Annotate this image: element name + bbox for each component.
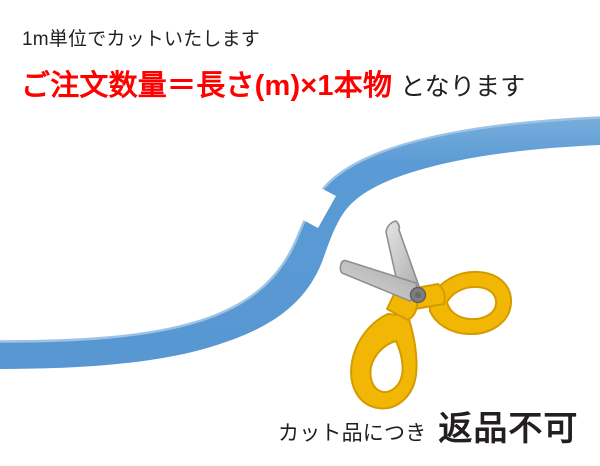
cut-unit-note: 1m単位でカットいたします [22,30,260,49]
scissors-handle-lower [351,288,417,408]
no-return-prefix: カット品につき [278,422,426,445]
order-formula-suffix: となります [400,73,525,101]
order-formula-line: ご注文数量＝長さ(m)×1本物となります [21,72,525,101]
scissors [340,221,511,408]
scissors-handle-upper [411,272,511,334]
no-return-line: カット品につき返品不可 [278,412,578,446]
blue-hose [0,117,600,369]
order-formula-red-text: ご注文数量＝長さ(m)×1本物 [21,70,392,102]
slide-canvas: 1m単位でカットいたします ご注文数量＝長さ(m)×1本物となります カット品に… [0,0,600,466]
scissors-pivot-center [415,292,421,298]
scissors-handle-lower-ring [351,314,416,408]
hose-body [0,117,600,369]
no-return-emphasis: 返品不可 [438,410,578,448]
